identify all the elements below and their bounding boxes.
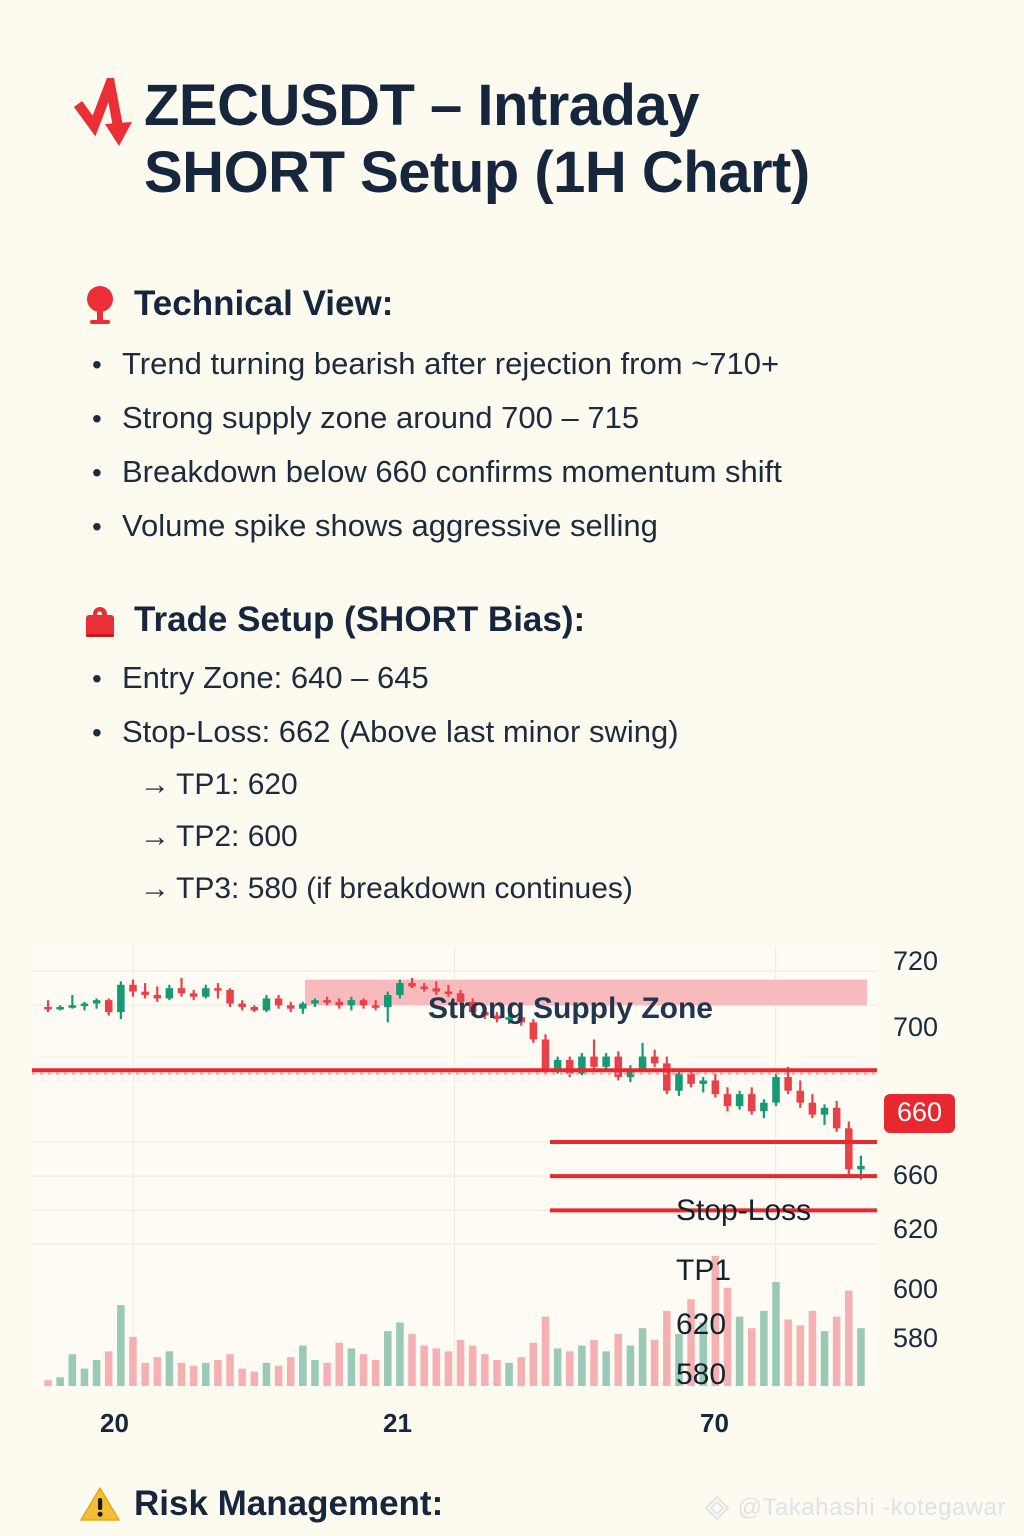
price-axis-tick: 600 [893, 1274, 938, 1305]
page-title-line1: ZECUSDT – Intraday [144, 72, 810, 139]
target-item: →TP1: 620 [92, 770, 972, 800]
technical-view-title: Technical View: [134, 284, 393, 324]
bullet-dot: • [92, 719, 122, 747]
list-item: • Entry Zone: 640 – 645 [92, 662, 972, 693]
trade-setup-title: Trade Setup (SHORT Bias): [134, 600, 585, 640]
supply-zone-label: Strong Supply Zone [428, 992, 713, 1026]
watermark-text: @Takahashi -kotegawar [738, 1494, 1006, 1522]
list-item: • Volume spike shows aggressive selling [92, 510, 972, 541]
level-label-stop-loss: Stop-Loss [676, 1194, 811, 1228]
list-item-label: Volume spike shows aggressive selling [122, 510, 658, 541]
pin-icon [78, 282, 122, 326]
poster-root: ZECUSDT – Intraday SHORT Setup (1H Chart… [0, 0, 1024, 1536]
x-axis-tick: 21 [383, 1408, 412, 1439]
target-item: →TP3: 580 (if breakdown continues) [92, 874, 972, 904]
risk-management-heading: Risk Management: [78, 1482, 443, 1526]
list-item-label: Entry Zone: 640 – 645 [122, 662, 429, 693]
list-item-label: Trend turning bearish after rejection fr… [122, 348, 779, 379]
technical-view-heading: Technical View: [78, 282, 393, 326]
technical-view-list: • Trend turning bearish after rejection … [92, 348, 972, 564]
list-item: • Strong supply zone around 700 – 715 [92, 402, 972, 433]
list-item-label: Strong supply zone around 700 – 715 [122, 402, 639, 433]
page-title-line2: SHORT Setup (1H Chart) [144, 139, 810, 206]
level-label-tp1: TP1 [676, 1254, 731, 1288]
handbag-icon [78, 598, 122, 642]
arrow-icon: → [140, 768, 170, 801]
bullet-dot: • [92, 665, 122, 693]
watermark: @Takahashi -kotegawar [703, 1494, 1006, 1522]
list-item: • Stop-Loss: 662 (Above last minor swing… [92, 716, 972, 747]
warning-icon [78, 1482, 122, 1526]
list-item: • Trend turning bearish after rejection … [92, 348, 972, 379]
price-axis-tick: 660 [893, 1160, 938, 1191]
page-title: ZECUSDT – Intraday SHORT Setup (1H Chart… [144, 72, 810, 207]
x-axis-tick: 20 [100, 1408, 129, 1439]
price-axis-tick: 620 [893, 1214, 938, 1245]
trade-setup-list: • Entry Zone: 640 – 645 • Stop-Loss: 662… [92, 662, 972, 926]
price-axis-tick: 700 [893, 1012, 938, 1043]
diamond-logo-icon [703, 1494, 731, 1522]
target-label: TP1: 620 [176, 768, 298, 801]
level-label-620: 620 [676, 1308, 726, 1342]
price-axis-tick: 580 [893, 1323, 938, 1354]
list-item-label: Breakdown below 660 confirms momentum sh… [122, 456, 782, 487]
bullet-dot: • [92, 351, 122, 379]
arrow-icon: → [140, 872, 170, 905]
current-price-badge: 660 [884, 1094, 955, 1133]
header: ZECUSDT – Intraday SHORT Setup (1H Chart… [72, 72, 972, 207]
down-trend-arrow-icon [72, 78, 134, 150]
level-label-580: 580 [676, 1358, 726, 1392]
trade-setup-heading: Trade Setup (SHORT Bias): [78, 598, 585, 642]
bullet-dot: • [92, 513, 122, 541]
bullet-dot: • [92, 459, 122, 487]
target-item: →TP2: 600 [92, 822, 972, 852]
arrow-icon: → [140, 820, 170, 853]
list-item: • Breakdown below 660 confirms momentum … [92, 456, 972, 487]
price-axis-tick: 720 [893, 946, 938, 977]
risk-management-title: Risk Management: [134, 1484, 443, 1524]
x-axis-tick: 70 [700, 1408, 729, 1439]
bullet-dot: • [92, 405, 122, 433]
list-item-label: Stop-Loss: 662 (Above last minor swing) [122, 716, 679, 747]
target-label: TP2: 600 [176, 820, 298, 853]
target-label: TP3: 580 (if breakdown continues) [176, 872, 633, 905]
